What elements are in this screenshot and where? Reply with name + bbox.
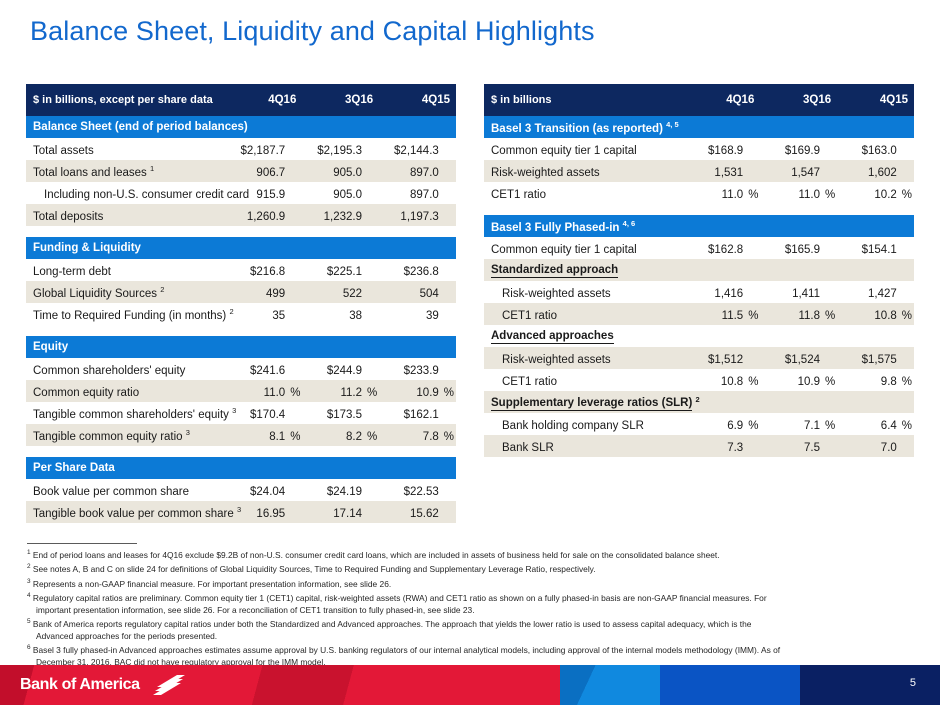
row-unit-1: % [746,182,760,204]
row-unit-3: % [900,182,914,204]
row-unit-1 [746,435,760,457]
bank-of-america-logo: Bank of America [20,673,193,697]
footnote-line: 6 Basel 3 fully phased-in Advanced appro… [27,642,917,656]
row-value-3: $2,144.3 [379,138,442,160]
row-unit-3 [442,358,456,380]
row-unit-1 [746,138,760,160]
row-unit-2 [365,182,379,204]
table-row: Including non-U.S. consumer credit card9… [26,182,456,204]
section-title: Funding & Liquidity [26,237,456,259]
footer-band-blue [660,665,800,705]
row-unit-2 [823,237,837,259]
section-title: Basel 3 Fully Phased-in 4, 6 [484,215,914,237]
row-value-3: $154.1 [837,237,900,259]
section-header-row: Balance Sheet (end of period balances) [26,116,456,138]
row-value-1: $241.6 [226,358,289,380]
footnotes: 1 End of period loans and leases for 4Q1… [27,543,917,668]
row-value-2: 1,232.9 [302,204,365,226]
row-unit-3: % [900,303,914,325]
row-value-3: 15.62 [379,501,442,523]
row-value-2: $1,524 [760,347,823,369]
row-value-1: $2,187.7 [226,138,289,160]
row-unit-3 [900,160,914,182]
row-unit-3: % [900,369,914,391]
header-col-1: 4Q16 [684,84,761,116]
row-label: Tangible book value per common share 3 [26,501,226,523]
row-unit-3 [442,303,456,325]
footer-band-light-blue [560,665,660,705]
page-title: Balance Sheet, Liquidity and Capital Hig… [30,16,595,47]
table-row: CET1 ratio11.5%11.8%10.8% [484,303,914,325]
row-unit-2: % [365,380,379,402]
table-row: Long-term debt$216.8$225.1$236.8 [26,259,456,281]
row-value-2: $244.9 [302,358,365,380]
table-row: Total loans and leases 1906.7905.0897.0 [26,160,456,182]
row-value-2: 11.8 [760,303,823,325]
row-value-1: 10.8 [684,369,747,391]
row-label: Tangible common equity ratio 3 [26,424,226,446]
row-label: Bank SLR [484,435,684,457]
row-value-1: $162.8 [684,237,747,259]
row-value-2: 905.0 [302,182,365,204]
row-unit-2: % [823,182,837,204]
footnote-line: Advanced approaches for the periods pres… [27,631,917,643]
table-row: Bank holding company SLR6.9%7.1%6.4% [484,413,914,435]
row-value-1: 1,260.9 [226,204,289,226]
row-unit-3 [900,435,914,457]
row-value-2: $169.9 [760,138,823,160]
row-value-3: 1,602 [837,160,900,182]
row-unit-1 [288,138,302,160]
section-header-row: Funding & Liquidity [26,237,456,259]
row-value-3: $162.1 [379,402,442,424]
row-unit-3 [442,204,456,226]
row-value-2: 1,411 [760,281,823,303]
row-unit-1 [746,237,760,259]
slide-footer: Bank of America 5 [0,665,940,705]
section-gap [26,446,456,457]
header-col-1: 4Q16 [226,84,303,116]
row-unit-2 [365,204,379,226]
row-unit-2 [823,347,837,369]
table-header-row: $ in billions4Q163Q164Q15 [484,84,914,116]
table-row: Total assets$2,187.7$2,195.3$2,144.3 [26,138,456,160]
section-header-row: Basel 3 Transition (as reported) 4, 5 [484,116,914,138]
row-unit-1 [746,347,760,369]
row-unit-1: % [288,380,302,402]
row-label: CET1 ratio [484,303,684,325]
row-label: Time to Required Funding (in months) 2 [26,303,226,325]
section-header-row: Equity [26,336,456,358]
row-unit-3 [442,259,456,281]
table-row: Risk-weighted assets1,5311,5471,602 [484,160,914,182]
sub-header-row: Standardized approach [484,259,914,281]
row-value-2: 7.5 [760,435,823,457]
table-row: CET1 ratio10.8%10.9%9.8% [484,369,914,391]
row-value-3: $236.8 [379,259,442,281]
sub-header-label: Advanced approaches [484,325,914,347]
row-unit-2 [365,281,379,303]
row-value-2: 11.0 [760,182,823,204]
page-number: 5 [910,677,916,689]
row-unit-1 [288,160,302,182]
row-label: Including non-U.S. consumer credit card [26,182,226,204]
row-unit-3 [900,281,914,303]
footnote-line: 3 Represents a non-GAAP financial measur… [27,576,917,590]
row-value-2: 17.14 [302,501,365,523]
section-header-row: Per Share Data [26,457,456,479]
row-unit-1 [288,281,302,303]
section-gap [26,226,456,237]
row-label: Long-term debt [26,259,226,281]
row-unit-3: % [442,380,456,402]
row-value-2: 10.9 [760,369,823,391]
row-value-2: 38 [302,303,365,325]
row-label: Risk-weighted assets [484,347,684,369]
sub-header-row: Supplementary leverage ratios (SLR) 2 [484,391,914,413]
table-row: CET1 ratio11.0%11.0%10.2% [484,182,914,204]
row-label: Common shareholders' equity [26,358,226,380]
row-label: Tangible common shareholders' equity 3 [26,402,226,424]
capital-ratios-table: $ in billions4Q163Q164Q15Basel 3 Transit… [484,84,914,457]
row-unit-2 [823,138,837,160]
row-value-2: $173.5 [302,402,365,424]
row-unit-1 [288,479,302,501]
row-value-1: $1,512 [684,347,747,369]
row-value-1: 1,531 [684,160,747,182]
section-gap [484,204,914,215]
row-label: Common equity ratio [26,380,226,402]
row-label: Common equity tier 1 capital [484,138,684,160]
row-value-1: $168.9 [684,138,747,160]
row-value-2: $165.9 [760,237,823,259]
right-financial-table: $ in billions4Q163Q164Q15Basel 3 Transit… [484,84,914,457]
row-unit-1 [288,501,302,523]
row-unit-2: % [823,369,837,391]
row-unit-2: % [365,424,379,446]
row-value-1: 11.0 [684,182,747,204]
footnote-line: 2 See notes A, B and C on slide 24 for d… [27,561,917,575]
row-unit-2 [365,501,379,523]
header-col-3: 4Q15 [379,84,456,116]
row-unit-1 [746,281,760,303]
row-value-2: $24.19 [302,479,365,501]
row-unit-3 [442,402,456,424]
row-unit-3 [900,347,914,369]
table-row: Book value per common share$24.04$24.19$… [26,479,456,501]
row-unit-3: % [900,413,914,435]
row-unit-3 [442,479,456,501]
row-unit-2 [823,435,837,457]
row-value-1: 8.1 [226,424,289,446]
row-label: Bank holding company SLR [484,413,684,435]
footnote-line: important presentation information, see … [27,605,917,617]
row-value-3: 10.2 [837,182,900,204]
row-value-3: $163.0 [837,138,900,160]
row-value-2: 905.0 [302,160,365,182]
row-unit-1: % [746,369,760,391]
row-label: Common equity tier 1 capital [484,237,684,259]
table-row: Tangible common equity ratio 38.1%8.2%7.… [26,424,456,446]
row-value-1: 11.5 [684,303,747,325]
logo-text: Bank of America [20,676,140,694]
row-value-2: 8.2 [302,424,365,446]
row-value-3: 1,197.3 [379,204,442,226]
row-unit-3 [442,501,456,523]
row-value-1: $24.04 [226,479,289,501]
row-value-2: 7.1 [760,413,823,435]
table-row: Common shareholders' equity$241.6$244.9$… [26,358,456,380]
row-unit-2 [365,160,379,182]
section-title: Basel 3 Transition (as reported) 4, 5 [484,116,914,138]
row-unit-3 [442,182,456,204]
sub-header-label: Standardized approach [484,259,914,281]
row-value-3: $233.9 [379,358,442,380]
row-value-2: 1,547 [760,160,823,182]
table-row: Tangible book value per common share 316… [26,501,456,523]
section-title: Per Share Data [26,457,456,479]
row-unit-3 [442,138,456,160]
row-value-1: 6.9 [684,413,747,435]
row-unit-3 [442,281,456,303]
row-value-1: 1,416 [684,281,747,303]
table-row: Time to Required Funding (in months) 235… [26,303,456,325]
section-title: Equity [26,336,456,358]
row-unit-1 [288,402,302,424]
row-value-2: 522 [302,281,365,303]
row-label: CET1 ratio [484,182,684,204]
row-label: Total loans and leases 1 [26,160,226,182]
header-label: $ in billions, except per share data [26,84,226,116]
row-value-3: 39 [379,303,442,325]
row-value-1: 499 [226,281,289,303]
row-value-3: 1,427 [837,281,900,303]
footnote-line: 5 Bank of America reports regulatory cap… [27,616,917,630]
row-value-3: 9.8 [837,369,900,391]
row-unit-1: % [746,303,760,325]
row-unit-2 [365,402,379,424]
row-value-2: $2,195.3 [302,138,365,160]
row-label: Global Liquidity Sources 2 [26,281,226,303]
balance-sheet-table: $ in billions, except per share data4Q16… [26,84,456,523]
row-unit-2 [365,138,379,160]
row-value-1: 35 [226,303,289,325]
row-unit-1 [288,182,302,204]
table-row: Risk-weighted assets1,4161,4111,427 [484,281,914,303]
row-value-3: 10.9 [379,380,442,402]
row-value-1: 11.0 [226,380,289,402]
header-col-2: 3Q16 [760,84,837,116]
row-value-3: $22.53 [379,479,442,501]
row-label: CET1 ratio [484,369,684,391]
table-row: Bank SLR7.37.57.0 [484,435,914,457]
row-unit-3 [442,160,456,182]
row-value-3: $1,575 [837,347,900,369]
row-unit-1: % [746,413,760,435]
row-value-3: 7.0 [837,435,900,457]
row-label: Risk-weighted assets [484,281,684,303]
row-unit-3 [900,138,914,160]
row-unit-1: % [288,424,302,446]
row-value-2: $225.1 [302,259,365,281]
row-value-3: 897.0 [379,160,442,182]
row-label: Risk-weighted assets [484,160,684,182]
row-value-1: 7.3 [684,435,747,457]
section-title: Balance Sheet (end of period balances) [26,116,456,138]
row-unit-2: % [823,303,837,325]
row-unit-2: % [823,413,837,435]
row-unit-2 [823,160,837,182]
header-col-2: 3Q16 [302,84,379,116]
row-unit-2 [823,281,837,303]
footnote-divider [27,543,137,544]
footer-band-navy [800,665,940,705]
row-unit-2 [365,259,379,281]
row-unit-3: % [442,424,456,446]
header-col-3: 4Q15 [837,84,914,116]
table-row: Tangible common shareholders' equity 3$1… [26,402,456,424]
sub-header-label: Supplementary leverage ratios (SLR) 2 [484,391,914,413]
footnote-line: 4 Regulatory capital ratios are prelimin… [27,590,917,604]
row-value-3: 7.8 [379,424,442,446]
row-unit-2 [365,358,379,380]
row-unit-1 [746,160,760,182]
table-row: Common equity tier 1 capital$168.9$169.9… [484,138,914,160]
table-header-row: $ in billions, except per share data4Q16… [26,84,456,116]
table-row: Global Liquidity Sources 2499522504 [26,281,456,303]
footnote-line: 1 End of period loans and leases for 4Q1… [27,547,917,561]
header-label: $ in billions [484,84,684,116]
row-value-1: 906.7 [226,160,289,182]
section-header-row: Basel 3 Fully Phased-in 4, 6 [484,215,914,237]
row-value-2: 11.2 [302,380,365,402]
row-label: Total deposits [26,204,226,226]
row-unit-1 [288,204,302,226]
table-row: Common equity ratio11.0%11.2%10.9% [26,380,456,402]
section-gap [26,325,456,336]
row-value-3: 10.8 [837,303,900,325]
sub-header-row: Advanced approaches [484,325,914,347]
flag-icon [147,673,193,697]
row-unit-1 [288,358,302,380]
row-value-3: 897.0 [379,182,442,204]
row-value-3: 6.4 [837,413,900,435]
row-label: Total assets [26,138,226,160]
row-unit-2 [365,479,379,501]
row-unit-1 [288,303,302,325]
table-row: Risk-weighted assets$1,512$1,524$1,575 [484,347,914,369]
left-financial-table: $ in billions, except per share data4Q16… [26,84,456,523]
table-row: Total deposits1,260.91,232.91,197.3 [26,204,456,226]
row-unit-3 [900,237,914,259]
table-row: Common equity tier 1 capital$162.8$165.9… [484,237,914,259]
row-value-3: 504 [379,281,442,303]
row-label: Book value per common share [26,479,226,501]
row-value-1: $216.8 [226,259,289,281]
row-unit-1 [288,259,302,281]
row-unit-2 [365,303,379,325]
